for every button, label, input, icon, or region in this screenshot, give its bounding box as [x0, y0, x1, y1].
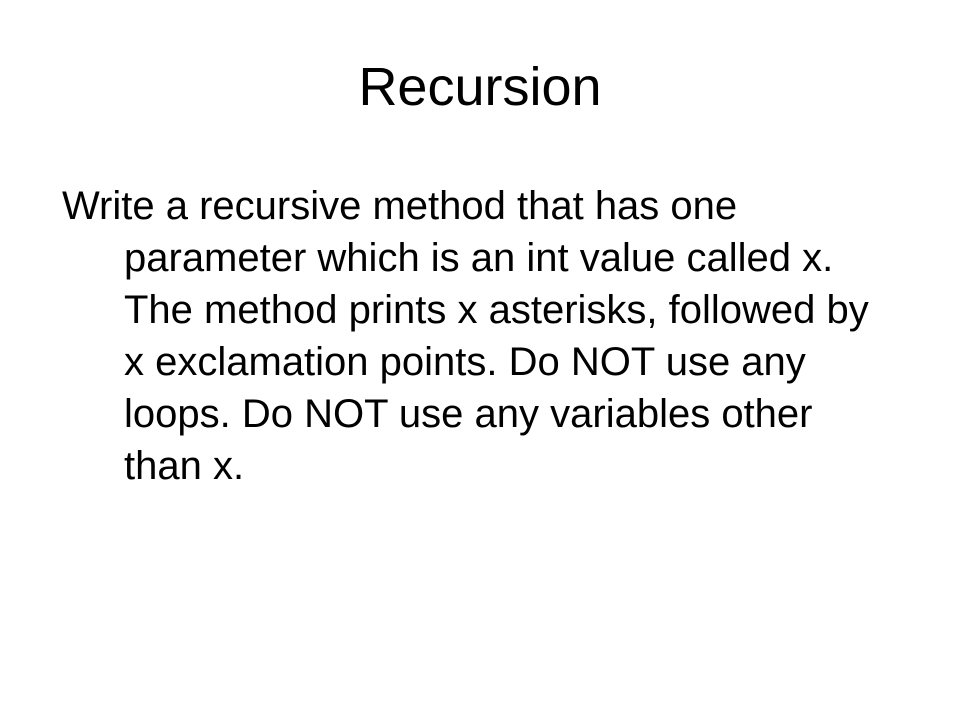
page-title: Recursion — [0, 56, 960, 118]
slide-body-content: Write a recursive method that has one pa… — [62, 180, 892, 492]
slide-body-paragraph: Write a recursive method that has one pa… — [62, 180, 892, 492]
presentation-slide: Recursion Write a recursive method that … — [0, 0, 960, 720]
